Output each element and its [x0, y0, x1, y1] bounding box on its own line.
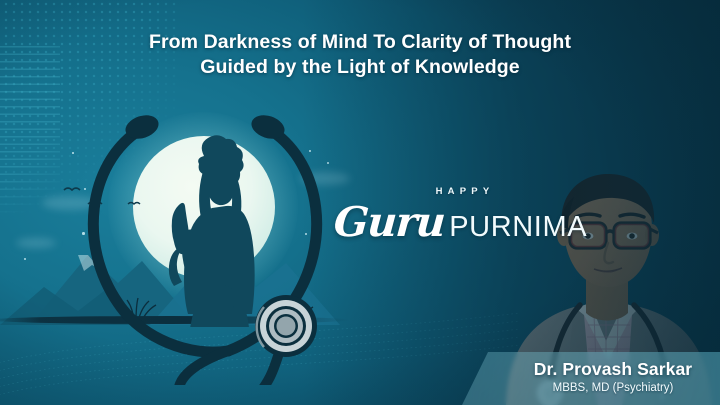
doctor-name: Dr. Provash Sarkar: [506, 359, 720, 380]
stethoscope-chestpiece: [255, 295, 317, 357]
stethoscope-graphic: [60, 95, 360, 385]
greeting-happy-text: HAPPY: [386, 186, 544, 197]
greeting-purnima-text: PURNIMA: [449, 211, 587, 244]
greeting-guru-script: Guru: [332, 200, 445, 244]
headline-line-1: From Darkness of Mind To Clarity of Thou…: [149, 31, 571, 53]
doctor-qualifications: MBBS, MD (Psychiatry): [506, 382, 720, 394]
headline-line-2: Guided by the Light of Knowledge: [0, 55, 720, 80]
greeting-lockup: HAPPY Guru PURNIMA: [334, 186, 544, 244]
doctor-name-banner-content: Dr. Provash Sarkar MBBS, MD (Psychiatry): [462, 352, 720, 405]
poster-headline: From Darkness of Mind To Clarity of Thou…: [0, 30, 720, 80]
guru-purnima-poster: From Darkness of Mind To Clarity of Thou…: [0, 0, 720, 405]
